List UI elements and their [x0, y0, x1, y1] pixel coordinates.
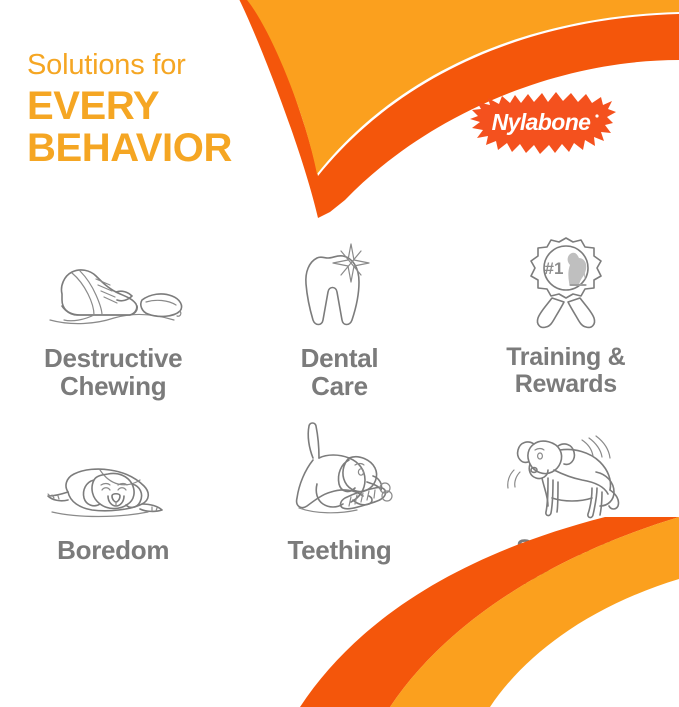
sparkle-glyph	[333, 244, 369, 282]
page-title: Solutions for EVERY BEHAVIOR	[27, 51, 232, 168]
grid-item-label: Stress & Anxiety	[516, 536, 615, 590]
grid-item-destructive-chewing[interactable]: Destructive Chewing	[0, 238, 226, 400]
title-line-1: Solutions for	[27, 51, 232, 80]
grid-item-training-rewards[interactable]: #1 Training & Rewards	[453, 238, 679, 398]
grid-item-teething[interactable]: Teething	[226, 430, 452, 564]
puppy-chewing-bone-icon	[264, 430, 414, 526]
grid-item-label: Training & Rewards	[506, 344, 625, 398]
bored-lying-dog-icon	[38, 430, 188, 526]
title-line-3: BEHAVIOR	[27, 128, 232, 168]
grid-item-stress-anxiety[interactable]: Stress & Anxiety	[453, 430, 679, 590]
logo-wordmark: Nylabone	[492, 109, 592, 135]
sparkling-tooth-icon	[264, 238, 414, 334]
award-rosette-dog-icon: #1	[491, 238, 641, 334]
grid-item-boredom[interactable]: Boredom	[0, 430, 226, 564]
poster-canvas: Solutions for EVERY BEHAVIOR Nylabone	[0, 0, 679, 707]
grid-item-dental-care[interactable]: Dental Care	[226, 238, 452, 400]
rosette-rank-text: #1	[544, 259, 563, 278]
grid-item-label: Dental Care	[301, 344, 379, 400]
trembling-dog-icon	[491, 430, 641, 526]
grid-item-label: Boredom	[57, 536, 169, 564]
behavior-solutions-grid: Destructive Chewing Dental Care	[0, 238, 679, 612]
grid-item-label: Teething	[287, 536, 391, 564]
chewed-shoe-icon	[38, 238, 188, 334]
title-line-2: EVERY	[27, 86, 232, 126]
nylabone-logo: Nylabone	[468, 88, 616, 160]
logo-registered-mark	[595, 114, 598, 117]
grid-item-label: Destructive Chewing	[44, 344, 182, 400]
